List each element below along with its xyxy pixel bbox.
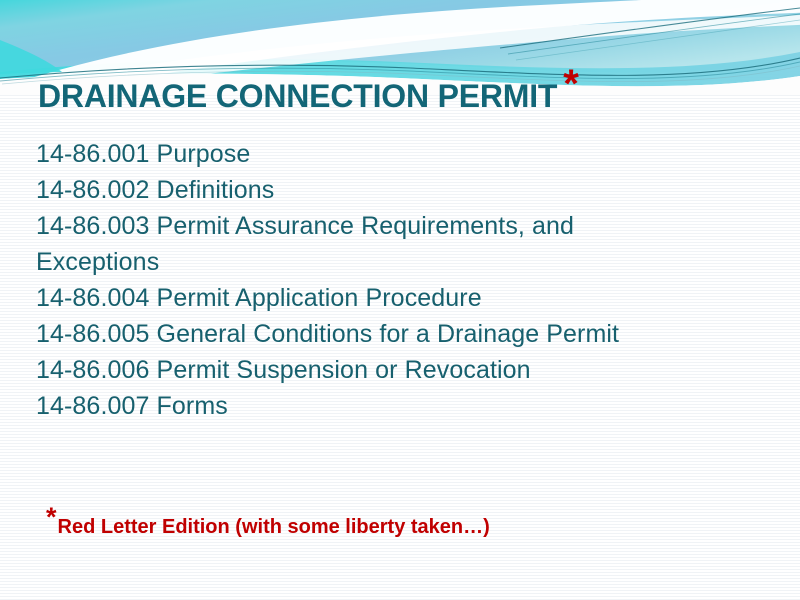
slide-content: DRAINAGE CONNECTION PERMIT* 14-86.001 Pu… bbox=[0, 0, 800, 600]
footnote-asterisk-icon: * bbox=[46, 502, 57, 532]
list-item: 14-86.006 Permit Suspension or Revocatio… bbox=[36, 352, 736, 388]
list-item: 14-86.002 Definitions bbox=[36, 172, 736, 208]
title-asterisk-icon: * bbox=[563, 62, 578, 106]
list-item: 14-86.004 Permit Application Procedure bbox=[36, 280, 736, 316]
list-item: 14-86.003 Permit Assurance Requirements,… bbox=[36, 208, 656, 280]
slide-canvas: DRAINAGE CONNECTION PERMIT* 14-86.001 Pu… bbox=[0, 0, 800, 600]
footnote: *Red Letter Edition (with some liberty t… bbox=[46, 516, 490, 538]
rule-list: 14-86.001 Purpose 14-86.002 Definitions … bbox=[36, 136, 736, 424]
footnote-text: Red Letter Edition (with some liberty ta… bbox=[58, 516, 490, 538]
list-item: 14-86.001 Purpose bbox=[36, 136, 736, 172]
page-title-text: DRAINAGE CONNECTION PERMIT bbox=[38, 78, 557, 114]
page-title: DRAINAGE CONNECTION PERMIT* bbox=[38, 80, 579, 112]
list-item: 14-86.007 Forms bbox=[36, 388, 736, 424]
list-item: 14-86.005 General Conditions for a Drain… bbox=[36, 316, 736, 352]
